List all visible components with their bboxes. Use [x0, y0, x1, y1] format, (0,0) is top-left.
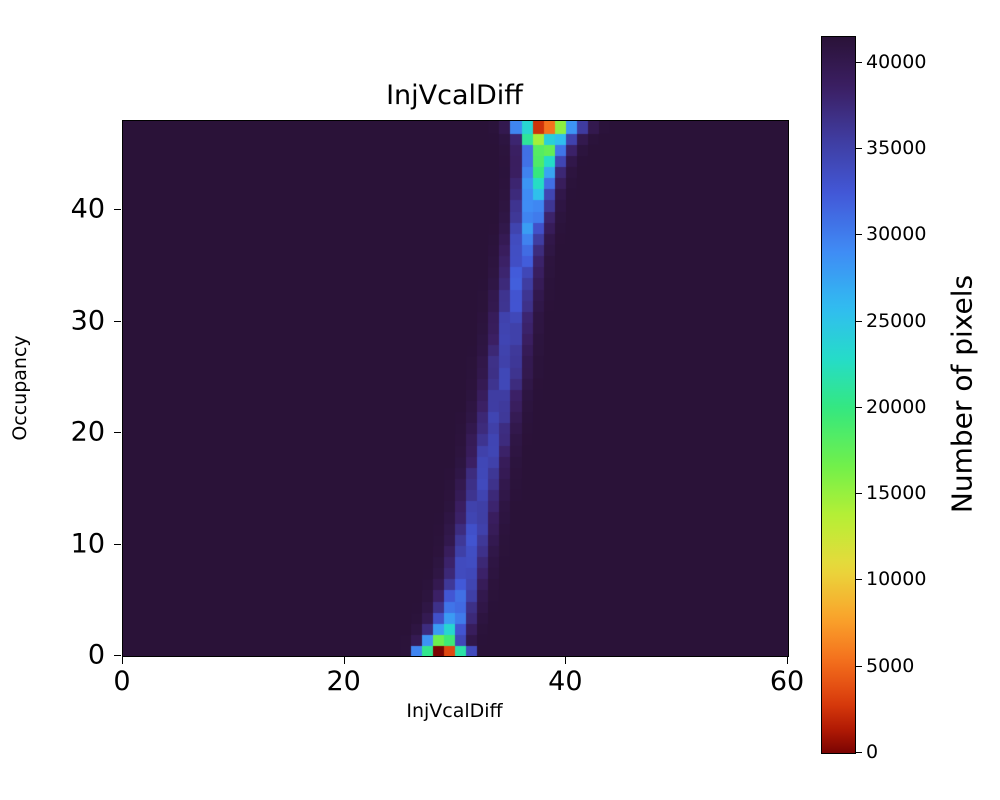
- colorbar-tick-mark: [856, 407, 862, 408]
- y-tick-mark: [114, 209, 121, 210]
- colorbar-tick-mark: [856, 234, 862, 235]
- colorbar[interactable]: [821, 36, 856, 754]
- heatmap-plot-area[interactable]: [122, 120, 789, 657]
- y-tick-mark: [114, 544, 121, 545]
- colorbar-gradient: [822, 37, 855, 753]
- x-tick-label: 20: [326, 666, 360, 697]
- x-tick-mark: [565, 657, 566, 664]
- y-tick-label: 20: [71, 417, 105, 448]
- y-tick-mark: [114, 432, 121, 433]
- figure-canvas: InjVcalDiff InjVcalDiff Occupancy Number…: [0, 0, 1000, 800]
- colorbar-tick-mark: [856, 148, 862, 149]
- colorbar-label: Number of pixels: [946, 275, 979, 513]
- colorbar-tick-mark: [856, 666, 862, 667]
- y-tick-label: 10: [71, 528, 105, 559]
- colorbar-tick-mark: [856, 321, 862, 322]
- x-tick-mark: [344, 657, 345, 664]
- colorbar-tick-label: 20000: [866, 396, 926, 418]
- colorbar-tick-label: 30000: [866, 223, 926, 245]
- x-axis-label: InjVcalDiff: [122, 700, 787, 722]
- y-axis-label: Occupancy: [9, 335, 31, 440]
- x-tick-mark: [787, 657, 788, 664]
- colorbar-tick-mark: [856, 752, 862, 753]
- colorbar-tick-label: 10000: [866, 568, 926, 590]
- colorbar-tick-label: 25000: [866, 310, 926, 332]
- x-tick-label: 40: [548, 666, 582, 697]
- colorbar-tick-label: 0: [866, 741, 878, 763]
- page-title: InjVcalDiff: [122, 82, 787, 109]
- y-tick-mark: [114, 655, 121, 656]
- x-tick-mark: [122, 657, 123, 664]
- heatmap-image: [123, 121, 788, 656]
- colorbar-tick-label: 15000: [866, 482, 926, 504]
- y-tick-label: 0: [88, 640, 105, 671]
- y-tick-mark: [114, 321, 121, 322]
- x-tick-label: 60: [770, 666, 804, 697]
- colorbar-tick-label: 35000: [866, 137, 926, 159]
- x-tick-label: 0: [113, 666, 130, 697]
- y-tick-label: 30: [71, 305, 105, 336]
- colorbar-tick-mark: [856, 579, 862, 580]
- colorbar-tick-mark: [856, 62, 862, 63]
- colorbar-tick-mark: [856, 493, 862, 494]
- y-tick-label: 40: [71, 194, 105, 225]
- colorbar-tick-label: 40000: [866, 51, 926, 73]
- colorbar-tick-label: 5000: [866, 655, 914, 677]
